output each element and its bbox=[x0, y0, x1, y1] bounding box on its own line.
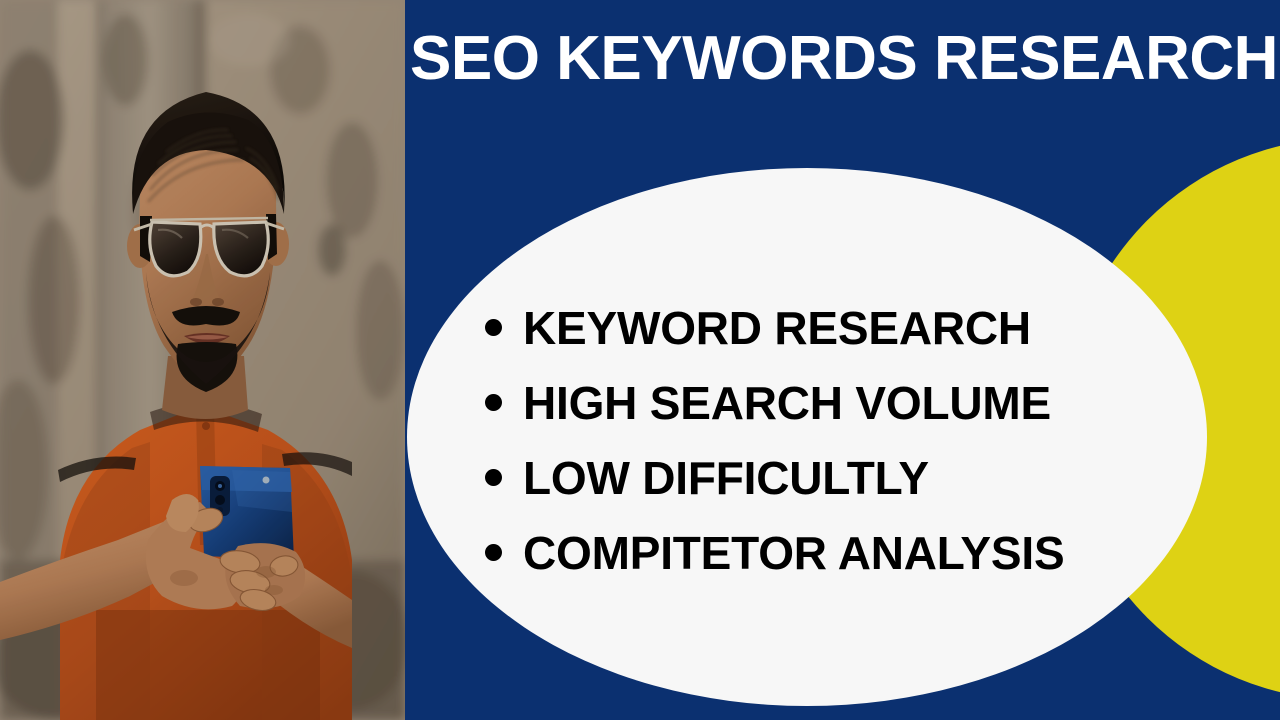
bullet-dot-icon bbox=[485, 544, 502, 561]
list-item-label: COMPITETOR ANALYSIS bbox=[523, 530, 1185, 576]
list-item-label: LOW DIFFICULTLY bbox=[523, 455, 1185, 501]
list-item-label: HIGH SEARCH VOLUME bbox=[523, 380, 1185, 426]
photo-illustration bbox=[0, 0, 405, 720]
hero-photo bbox=[0, 0, 405, 720]
list-item: HIGH SEARCH VOLUME bbox=[485, 365, 1185, 440]
bullet-dot-icon bbox=[485, 469, 502, 486]
list-item-label: KEYWORD RESEARCH bbox=[523, 305, 1185, 351]
page-title: SEO KEYWORDS RESEARCH bbox=[410, 26, 1270, 91]
bullet-dot-icon bbox=[485, 394, 502, 411]
photo-subject bbox=[0, 0, 405, 720]
feature-list: KEYWORD RESEARCH HIGH SEARCH VOLUME LOW … bbox=[485, 290, 1185, 590]
slide-canvas: SEO KEYWORDS RESEARCH KEYWORD RESEARCH H… bbox=[0, 0, 1280, 720]
list-item: COMPITETOR ANALYSIS bbox=[485, 515, 1185, 590]
list-item: LOW DIFFICULTLY bbox=[485, 440, 1185, 515]
list-item: KEYWORD RESEARCH bbox=[485, 290, 1185, 365]
content-panel: SEO KEYWORDS RESEARCH KEYWORD RESEARCH H… bbox=[405, 0, 1280, 720]
bullet-dot-icon bbox=[485, 319, 502, 336]
